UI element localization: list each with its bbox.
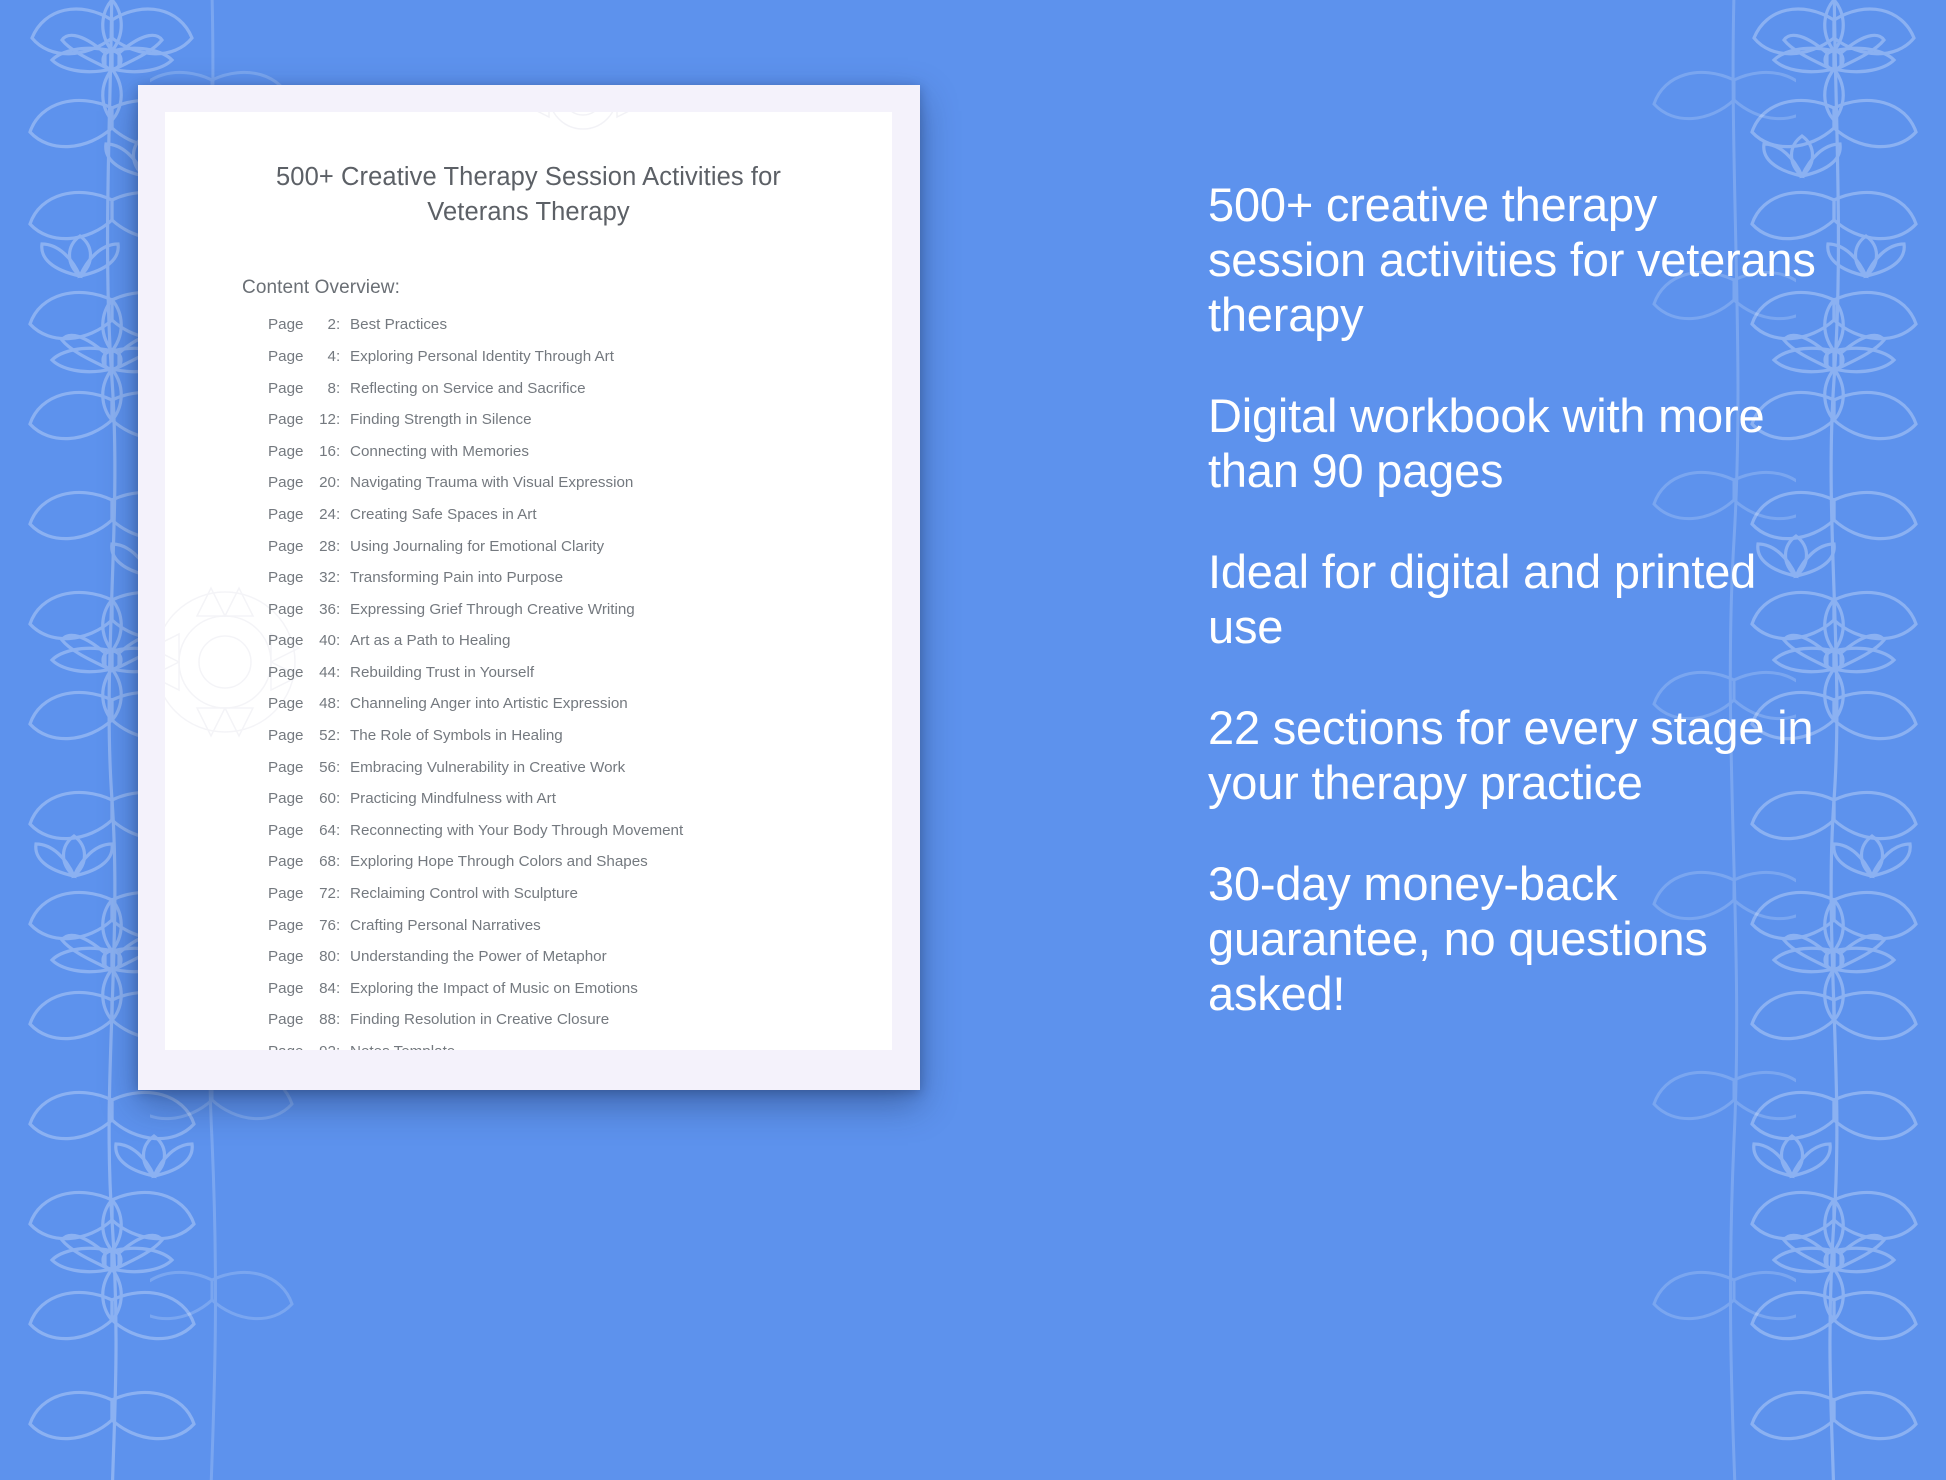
marketing-copy-column: 500+ creative therapy session activities…: [1208, 178, 1818, 1022]
table-of-contents-item: Page60:Practicing Mindfulness with Art: [268, 791, 842, 823]
toc-colon: :: [336, 444, 350, 459]
toc-page-number: 12: [310, 412, 336, 427]
toc-colon: :: [336, 791, 350, 806]
toc-page-word: Page: [268, 1044, 310, 1050]
toc-page-number: 16: [310, 444, 336, 459]
toc-colon: :: [336, 381, 350, 396]
toc-page-number: 56: [310, 760, 336, 775]
toc-page-word: Page: [268, 602, 310, 617]
toc-section-title: Exploring the Impact of Music on Emotion…: [350, 981, 638, 996]
toc-section-title: Embracing Vulnerability in Creative Work: [350, 760, 625, 775]
toc-colon: :: [336, 412, 350, 427]
toc-page-number: 88: [310, 1012, 336, 1027]
table-of-contents-item: Page92:Notes Template: [268, 1044, 842, 1050]
table-of-contents-item: Page52:The Role of Symbols in Healing: [268, 728, 842, 760]
table-of-contents-item: Page4:Exploring Personal Identity Throug…: [268, 349, 842, 381]
toc-page-word: Page: [268, 381, 310, 396]
toc-colon: :: [336, 760, 350, 775]
toc-page-number: 80: [310, 949, 336, 964]
table-of-contents-item: Page2:Best Practices: [268, 317, 842, 349]
toc-page-number: 52: [310, 728, 336, 743]
marketing-line: 500+ creative therapy session activities…: [1208, 178, 1818, 343]
toc-section-title: Exploring Hope Through Colors and Shapes: [350, 854, 648, 869]
toc-colon: :: [336, 696, 350, 711]
toc-colon: :: [336, 918, 350, 933]
toc-section-title: Connecting with Memories: [350, 444, 529, 459]
toc-page-word: Page: [268, 949, 310, 964]
table-of-contents-item: Page12:Finding Strength in Silence: [268, 412, 842, 444]
table-of-contents-item: Page64:Reconnecting with Your Body Throu…: [268, 823, 842, 855]
toc-page-word: Page: [268, 633, 310, 648]
toc-page-number: 60: [310, 791, 336, 806]
toc-section-title: Channeling Anger into Artistic Expressio…: [350, 696, 628, 711]
marketing-line: 22 sections for every stage in your ther…: [1208, 701, 1818, 811]
table-of-contents-item: Page8:Reflecting on Service and Sacrific…: [268, 381, 842, 413]
toc-colon: :: [336, 949, 350, 964]
toc-colon: :: [336, 539, 350, 554]
toc-section-title: Finding Resolution in Creative Closure: [350, 1012, 609, 1027]
table-of-contents-item: Page16:Connecting with Memories: [268, 444, 842, 476]
table-of-contents-item: Page84:Exploring the Impact of Music on …: [268, 981, 842, 1013]
toc-page-number: 76: [310, 918, 336, 933]
toc-page-word: Page: [268, 317, 310, 332]
toc-colon: :: [336, 349, 350, 364]
marketing-line: Digital workbook with more than 90 pages: [1208, 389, 1818, 499]
toc-page-word: Page: [268, 349, 310, 364]
toc-page-number: 32: [310, 570, 336, 585]
toc-page-word: Page: [268, 539, 310, 554]
toc-page-word: Page: [268, 918, 310, 933]
toc-colon: :: [336, 665, 350, 680]
page-title: 500+ Creative Therapy Session Activities…: [215, 160, 842, 229]
toc-colon: :: [336, 886, 350, 901]
toc-page-word: Page: [268, 444, 310, 459]
table-of-contents-list: Page2:Best PracticesPage4:Exploring Pers…: [215, 317, 842, 1050]
table-of-contents-item: Page40:Art as a Path to Healing: [268, 633, 842, 665]
toc-section-title: Navigating Trauma with Visual Expression: [350, 475, 633, 490]
toc-page-number: 92: [310, 1044, 336, 1050]
toc-colon: :: [336, 1044, 350, 1050]
toc-page-word: Page: [268, 823, 310, 838]
toc-section-title: Exploring Personal Identity Through Art: [350, 349, 614, 364]
toc-page-number: 68: [310, 854, 336, 869]
toc-section-title: Reflecting on Service and Sacrifice: [350, 381, 586, 396]
toc-page-word: Page: [268, 886, 310, 901]
table-of-contents-item: Page36:Expressing Grief Through Creative…: [268, 602, 842, 634]
workbook-page-sheet: 500+ Creative Therapy Session Activities…: [165, 112, 892, 1050]
toc-colon: :: [336, 981, 350, 996]
toc-page-word: Page: [268, 981, 310, 996]
toc-colon: :: [336, 317, 350, 332]
toc-section-title: Rebuilding Trust in Yourself: [350, 665, 534, 680]
toc-page-word: Page: [268, 1012, 310, 1027]
toc-page-number: 2: [310, 317, 336, 332]
marketing-line: 30-day money-back guarantee, no question…: [1208, 857, 1818, 1022]
toc-page-number: 24: [310, 507, 336, 522]
toc-section-title: Notes Template: [350, 1044, 455, 1050]
toc-section-title: Practicing Mindfulness with Art: [350, 791, 556, 806]
toc-page-number: 40: [310, 633, 336, 648]
toc-page-word: Page: [268, 854, 310, 869]
toc-page-word: Page: [268, 791, 310, 806]
toc-page-number: 84: [310, 981, 336, 996]
toc-page-number: 28: [310, 539, 336, 554]
toc-page-word: Page: [268, 412, 310, 427]
toc-page-number: 4: [310, 349, 336, 364]
table-of-contents-item: Page80:Understanding the Power of Metaph…: [268, 949, 842, 981]
toc-colon: :: [336, 602, 350, 617]
toc-page-word: Page: [268, 728, 310, 743]
marketing-line: Ideal for digital and printed use: [1208, 545, 1818, 655]
toc-section-title: Using Journaling for Emotional Clarity: [350, 539, 604, 554]
toc-colon: :: [336, 823, 350, 838]
toc-page-word: Page: [268, 696, 310, 711]
toc-page-word: Page: [268, 475, 310, 490]
table-of-contents-item: Page48:Channeling Anger into Artistic Ex…: [268, 696, 842, 728]
toc-section-title: Understanding the Power of Metaphor: [350, 949, 607, 964]
toc-page-number: 72: [310, 886, 336, 901]
toc-colon: :: [336, 475, 350, 490]
toc-page-number: 20: [310, 475, 336, 490]
table-of-contents-item: Page88:Finding Resolution in Creative Cl…: [268, 1012, 842, 1044]
toc-section-title: Transforming Pain into Purpose: [350, 570, 563, 585]
table-of-contents-item: Page56:Embracing Vulnerability in Creati…: [268, 760, 842, 792]
table-of-contents-item: Page32:Transforming Pain into Purpose: [268, 570, 842, 602]
toc-colon: :: [336, 728, 350, 743]
toc-page-word: Page: [268, 507, 310, 522]
toc-page-word: Page: [268, 570, 310, 585]
toc-section-title: Reclaiming Control with Sculpture: [350, 886, 578, 901]
toc-page-number: 44: [310, 665, 336, 680]
toc-colon: :: [336, 570, 350, 585]
toc-colon: :: [336, 854, 350, 869]
toc-page-number: 48: [310, 696, 336, 711]
content-overview-label: Content Overview:: [242, 277, 842, 299]
table-of-contents-item: Page28:Using Journaling for Emotional Cl…: [268, 539, 842, 571]
table-of-contents-item: Page68:Exploring Hope Through Colors and…: [268, 854, 842, 886]
toc-page-word: Page: [268, 665, 310, 680]
toc-colon: :: [336, 507, 350, 522]
document-body: 500+ Creative Therapy Session Activities…: [165, 112, 892, 1050]
toc-section-title: The Role of Symbols in Healing: [350, 728, 563, 743]
toc-colon: :: [336, 1012, 350, 1027]
toc-section-title: Best Practices: [350, 317, 447, 332]
toc-section-title: Finding Strength in Silence: [350, 412, 532, 427]
toc-section-title: Crafting Personal Narratives: [350, 918, 541, 933]
toc-section-title: Expressing Grief Through Creative Writin…: [350, 602, 635, 617]
toc-page-number: 64: [310, 823, 336, 838]
toc-page-word: Page: [268, 760, 310, 775]
table-of-contents-item: Page24:Creating Safe Spaces in Art: [268, 507, 842, 539]
table-of-contents-item: Page20:Navigating Trauma with Visual Exp…: [268, 475, 842, 507]
toc-page-number: 36: [310, 602, 336, 617]
table-of-contents-item: Page44:Rebuilding Trust in Yourself: [268, 665, 842, 697]
toc-section-title: Reconnecting with Your Body Through Move…: [350, 823, 683, 838]
toc-section-title: Creating Safe Spaces in Art: [350, 507, 537, 522]
toc-colon: :: [336, 633, 350, 648]
toc-section-title: Art as a Path to Healing: [350, 633, 510, 648]
table-of-contents-item: Page72:Reclaiming Control with Sculpture: [268, 886, 842, 918]
toc-page-number: 8: [310, 381, 336, 396]
table-of-contents-item: Page76:Crafting Personal Narratives: [268, 918, 842, 950]
workbook-page-preview-card: 500+ Creative Therapy Session Activities…: [138, 85, 920, 1090]
